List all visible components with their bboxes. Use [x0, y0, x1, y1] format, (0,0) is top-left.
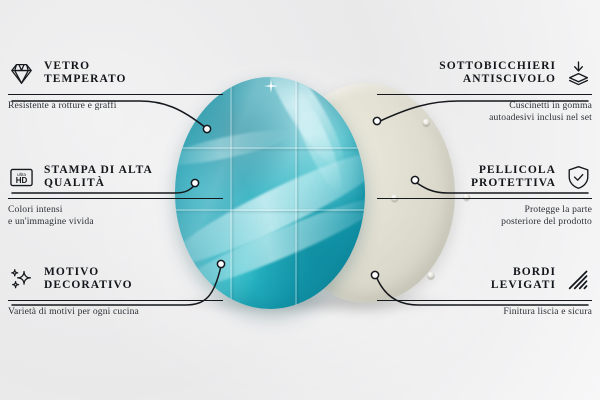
feature-subtitle: Varietà di motivi per ogni cucina	[8, 306, 223, 318]
feature-stampa-alta-qualita: ultra HD STAMPA DI ALTAQUALITÀ Colori in…	[8, 160, 223, 228]
smooth-edges-icon	[565, 266, 592, 293]
feature-subtitle: Colori intensi e un'immagine vivida	[8, 204, 223, 227]
press-pad-icon	[565, 60, 592, 87]
diamond-icon	[8, 60, 35, 87]
divider	[377, 198, 592, 199]
feature-motivo-decorativo: MOTIVODECORATIVO Varietà di motivi per o…	[8, 262, 223, 318]
feature-title: VETROTEMPERATO	[44, 60, 127, 87]
divider	[377, 300, 592, 301]
feature-subtitle: Finitura liscia e sicura	[377, 306, 592, 318]
feature-subtitle: Protegge la parte posteriore del prodott…	[377, 204, 592, 227]
feature-title: SOTTOBICCHIERIANTISCIVOLO	[439, 60, 556, 87]
feature-sottobicchieri-antiscivolo: SOTTOBICCHIERIANTISCIVOLO Cuscinetti in …	[377, 56, 592, 124]
divider	[8, 198, 223, 199]
feature-title: BORDILEVIGATI	[491, 266, 556, 293]
feature-subtitle: Cuscinetti in gomma autoadesivi inclusi …	[377, 100, 592, 123]
feature-subtitle: Resistente a rotture e graffi	[8, 100, 223, 112]
feature-vetro-temperato: VETROTEMPERATO Resistente a rotture e gr…	[8, 56, 223, 112]
svg-text:HD: HD	[16, 176, 28, 185]
shield-check-icon	[565, 164, 592, 191]
glass-glint-icon	[264, 79, 278, 93]
divider	[8, 300, 223, 301]
feature-title: STAMPA DI ALTAQUALITÀ	[44, 164, 153, 191]
feature-title: MOTIVODECORATIVO	[44, 266, 133, 293]
divider	[377, 94, 592, 95]
infographic-canvas: VETROTEMPERATO Resistente a rotture e gr…	[0, 0, 600, 400]
sparkles-icon	[8, 266, 35, 293]
divider	[8, 94, 223, 95]
feature-bordi-levigati: BORDILEVIGATI Finitura liscia e sicura	[377, 262, 592, 318]
ultra-hd-icon: ultra HD	[8, 164, 35, 191]
feature-pellicola-protettiva: PELLICOLAPROTETTIVA Protegge la parte po…	[377, 160, 592, 228]
feature-title: PELLICOLAPROTETTIVA	[471, 164, 556, 191]
